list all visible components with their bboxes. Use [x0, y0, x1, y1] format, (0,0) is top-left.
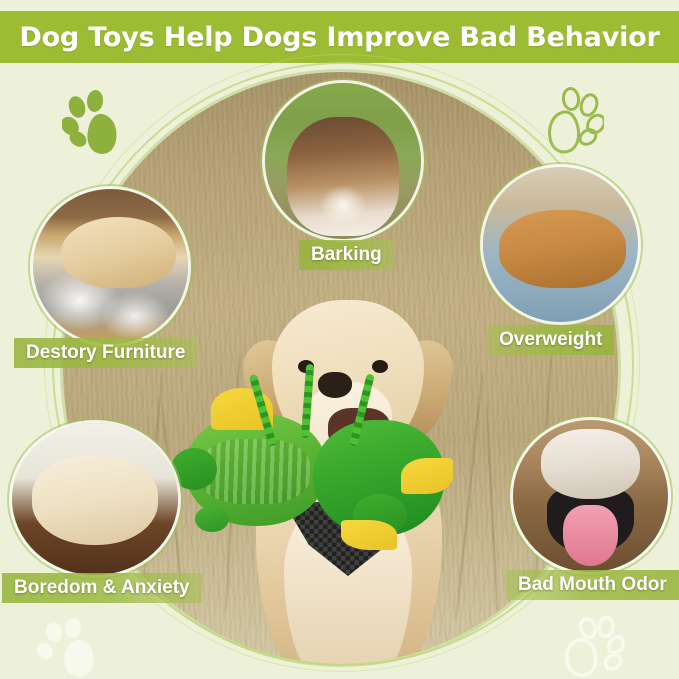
plush-toy-right	[313, 420, 445, 536]
dog-nose	[318, 372, 352, 398]
dog-eye-right	[372, 360, 388, 373]
node-barking-photo	[265, 83, 421, 239]
node-bad-mouth-odor[interactable]	[513, 420, 668, 572]
dog-tongue-detail	[563, 505, 619, 566]
node-boredom-anxiety[interactable]	[12, 423, 178, 575]
dog-snout-detail	[564, 435, 617, 471]
node-destroy-furniture-photo	[33, 189, 188, 344]
node-barking[interactable]	[265, 83, 421, 239]
caption-boredom-anxiety: Boredom & Anxiety	[2, 573, 202, 603]
caption-barking: Barking	[299, 240, 394, 270]
node-overweight-photo	[483, 167, 638, 322]
plush-toy-right-fin-lower	[341, 520, 397, 550]
node-bad-mouth-odor-photo	[513, 420, 668, 572]
poster-root: Dog Toys Help Dogs Improve Bad Behavior	[0, 0, 679, 679]
node-overweight[interactable]	[483, 167, 638, 322]
caption-overweight: Overweight	[487, 325, 614, 355]
caption-destroy-furniture: Destory Furniture	[14, 338, 197, 368]
page-title: Dog Toys Help Dogs Improve Bad Behavior	[19, 22, 659, 53]
caption-bad-mouth-odor: Bad Mouth Odor	[506, 570, 679, 600]
plush-toy-left-foot	[195, 506, 229, 532]
node-destroy-furniture[interactable]	[33, 189, 188, 344]
plush-toy-right-fin	[401, 458, 453, 494]
header-banner: Dog Toys Help Dogs Improve Bad Behavior	[0, 11, 679, 63]
node-boredom-anxiety-photo	[12, 423, 178, 575]
